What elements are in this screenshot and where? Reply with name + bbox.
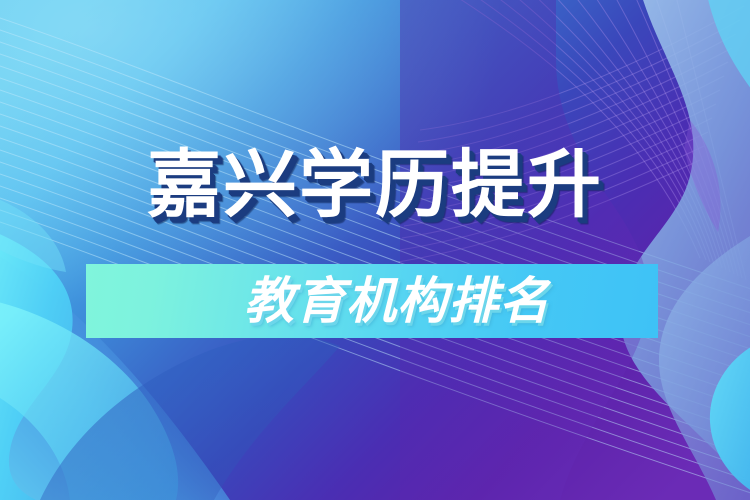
subtitle-ribbon: 教育机构排名 [86,264,658,338]
banner-content: 嘉兴学历提升 [0,0,750,500]
promo-banner: 嘉兴学历提升 教育机构排名 [0,0,750,500]
ribbon-text: 教育机构排名 [86,276,658,326]
headline-text: 嘉兴学历提升 [0,148,750,222]
